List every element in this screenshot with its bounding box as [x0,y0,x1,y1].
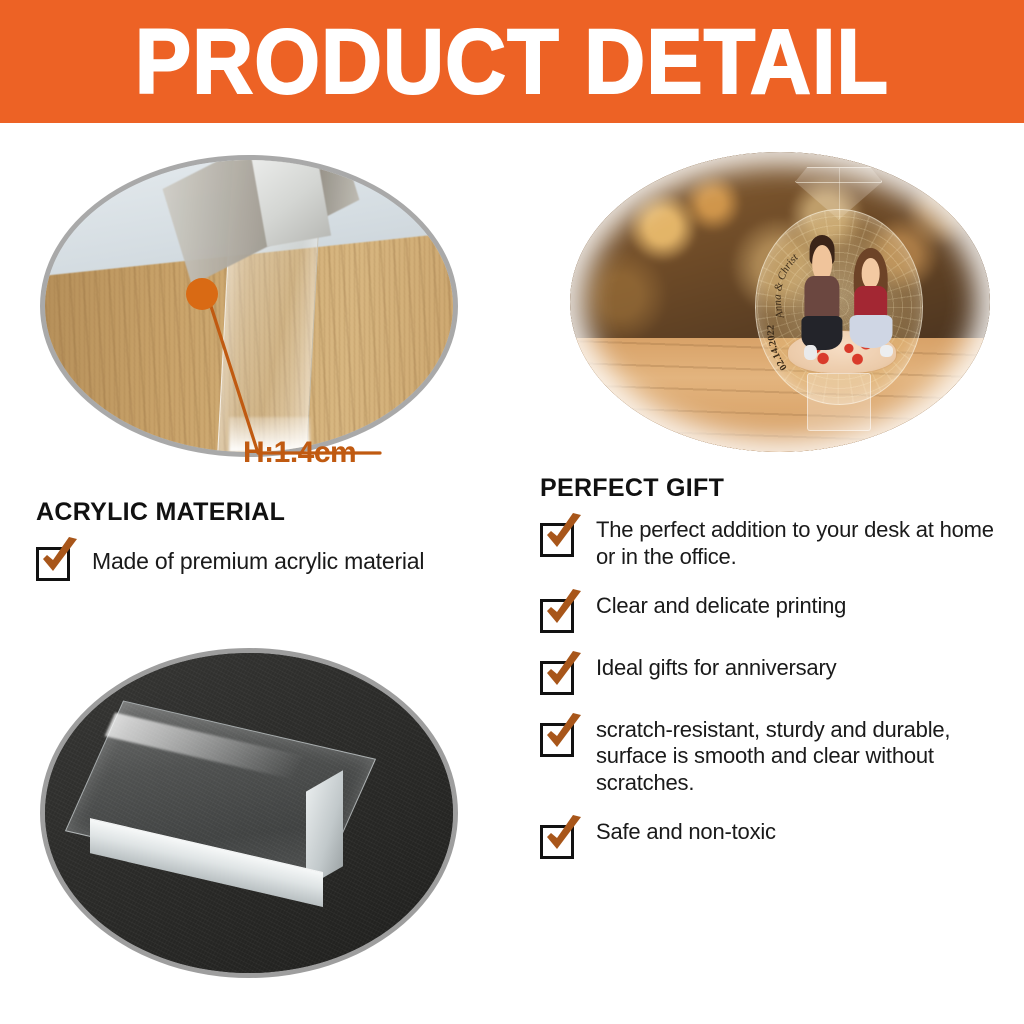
feature-item: The perfect addition to your desk at hom… [540,517,1010,571]
checkmark-icon [540,821,578,859]
feature-label: Made of premium acrylic material [92,547,424,575]
photo-product-plaque: Anna & Christ 02.14.2022 [570,152,990,452]
checkmark-icon [540,519,578,557]
callout-leader-line [208,297,380,453]
feature-item: scratch-resistant, sturdy and durable, s… [540,717,1010,797]
checkmark-icon [540,595,578,633]
feature-item: Clear and delicate printing [540,593,1010,633]
section-heading-perfect-gift: PERFECT GIFT [540,474,1010,503]
dimension-label: H:1.4cm [243,436,356,470]
section-perfect-gift: PERFECT GIFT The perfect addition to you… [540,474,1010,881]
feature-item: Made of premium acrylic material [36,541,506,581]
feature-item: Safe and non-toxic [540,819,1010,859]
section-heading-acrylic-material: ACRYLIC MATERIAL [36,498,506,527]
feature-label: Ideal gifts for anniversary [596,655,836,682]
page-title: PRODUCT DETAIL [135,16,889,108]
photo-acrylic-block [40,648,458,978]
feature-label: scratch-resistant, sturdy and durable, s… [596,717,1010,797]
feature-label: Safe and non-toxic [596,819,776,846]
checkmark-icon [540,719,578,757]
checkmark-icon [36,543,74,581]
product-detail-banner: PRODUCT DETAIL [0,0,1024,123]
feature-label: The perfect addition to your desk at hom… [596,517,1010,571]
section-acrylic-material: ACRYLIC MATERIAL Made of premium acrylic… [36,498,506,581]
feature-label: Clear and delicate printing [596,593,846,620]
feature-item: Ideal gifts for anniversary [540,655,1010,695]
photo-edge-vignette [570,152,990,452]
dimension-callout [150,275,570,475]
dimension-dot-icon [186,278,218,310]
checkmark-icon [540,657,578,695]
